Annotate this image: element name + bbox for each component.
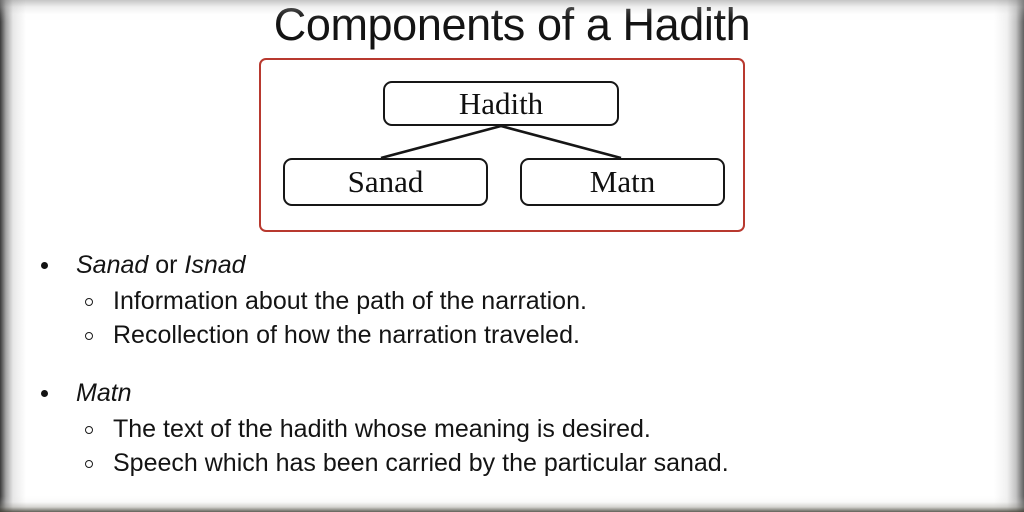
hollow-circle-icon [85,426,93,434]
node-hadith-label: Hadith [459,86,543,122]
sub-bullet-sanad-2-text: Recollection of how the narration travel… [113,321,580,349]
node-matn-label: Matn [590,164,655,200]
node-matn: Matn [520,158,725,206]
sub-bullet-matn-2-text: Speech which has been carried by the par… [113,449,729,477]
bullet-group-sanad: Sanad or Isnad Information about the pat… [0,250,1024,349]
hollow-circle-icon [85,460,93,468]
connector-hadith-to-sanad [381,126,501,158]
bullet-heading-sanad-term2: Isnad [184,251,245,279]
page-title: Components of a Hadith [0,0,1024,50]
bullet-dot-icon [41,390,48,397]
node-hadith: Hadith [383,81,619,126]
hollow-circle-icon [85,298,93,306]
sub-bullet-sanad-1: Information about the path of the narrat… [0,287,1024,315]
bullet-group-matn: Matn The text of the hadith whose meanin… [0,378,1024,477]
sub-bullet-sanad-1-text: Information about the path of the narrat… [113,287,587,315]
frame-edge-bottom [0,496,1024,512]
bullet-list: Sanad or Isnad Information about the pat… [0,250,1024,477]
sub-bullet-sanad-2: Recollection of how the narration travel… [0,321,1024,349]
sub-bullet-matn-1-text: The text of the hadith whose meaning is … [113,415,651,443]
bullet-dot-icon [41,262,48,269]
slide-canvas: Components of a Hadith Hadith Sanad Matn… [0,0,1024,512]
bullet-heading-sanad-term1: Sanad [76,251,148,279]
sub-bullet-matn-1: The text of the hadith whose meaning is … [0,415,1024,443]
bullet-heading-sanad-conjunction: or [148,251,184,279]
sub-bullet-matn-2: Speech which has been carried by the par… [0,449,1024,477]
node-sanad: Sanad [283,158,488,206]
bullet-heading-matn: Matn [0,378,1024,409]
bullet-heading-matn-term1: Matn [76,379,132,407]
connector-hadith-to-matn [501,126,621,158]
bullet-heading-sanad: Sanad or Isnad [0,250,1024,281]
node-sanad-label: Sanad [348,164,424,200]
hollow-circle-icon [85,332,93,340]
